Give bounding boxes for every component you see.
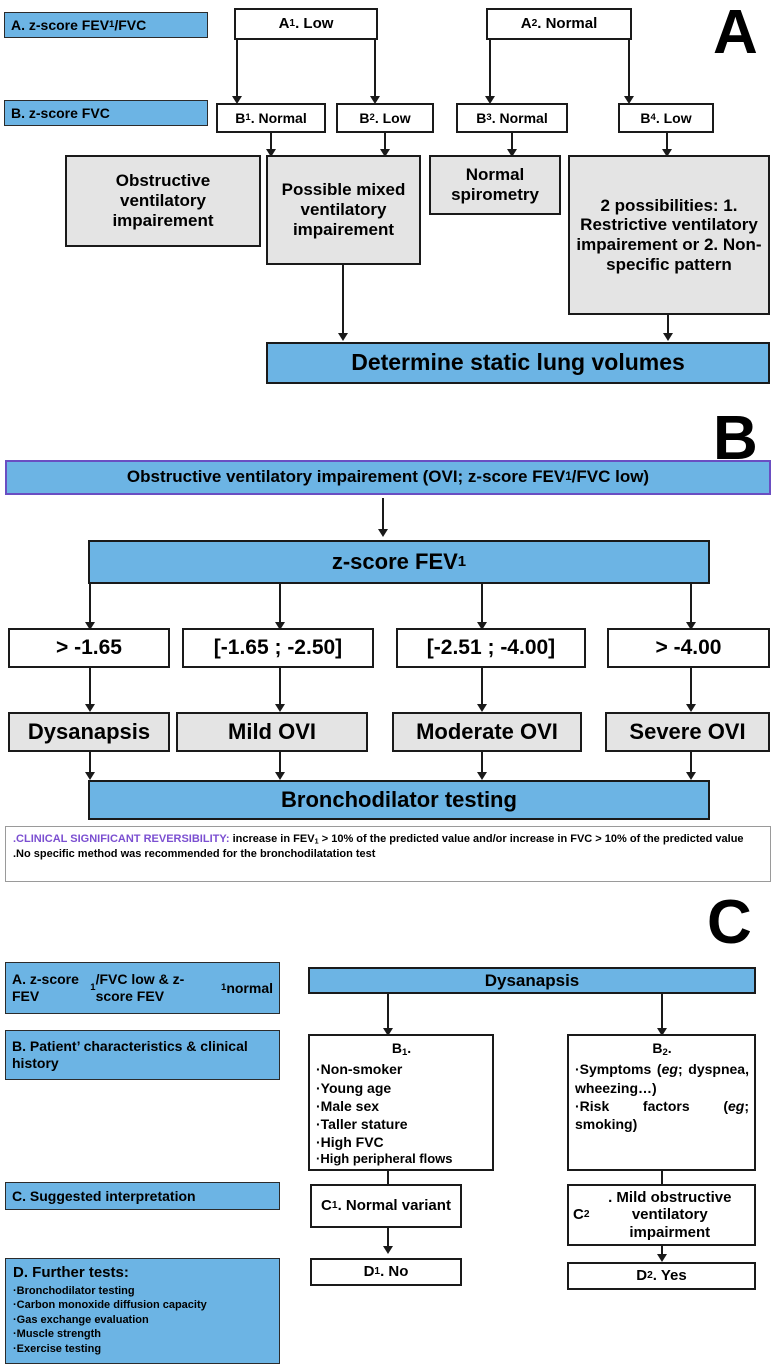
further-tests-item: ·Bronchodilator testing bbox=[13, 1284, 272, 1299]
further-tests-item: ·Gas exchange evaluation bbox=[13, 1313, 272, 1328]
further-tests-list: D. Further tests: ·Bronchodilator testin… bbox=[6, 1259, 279, 1360]
c-row-label-c: C. Suggested interpretation bbox=[5, 1182, 280, 1210]
node-b3-normal[interactable]: B3. Normal bbox=[456, 103, 568, 133]
node-c-dysanapsis-header[interactable]: Dysanapsis bbox=[308, 967, 756, 994]
arrow-range3-to-moderate bbox=[477, 704, 487, 712]
node-ovi-header[interactable]: Obstructive ventilatory impairement (OVI… bbox=[5, 460, 771, 495]
arrow-c2-to-d2 bbox=[657, 1254, 667, 1262]
row-label-a-zscore-fev1-fvc: A. z-score FEV1/FVC bbox=[4, 12, 208, 38]
arrow-range2-to-mild bbox=[275, 704, 285, 712]
arrow-possibilities-to-final bbox=[663, 333, 673, 341]
further-tests-item: ·Muscle strength bbox=[13, 1327, 272, 1342]
node-b4-low[interactable]: B4. Low bbox=[618, 103, 714, 133]
connector-dec-1-v bbox=[89, 584, 91, 626]
note-highlight: .CLINICAL SIGNIFICANT REVERSIBILITY: bbox=[13, 833, 230, 845]
node-range-gt-4-00[interactable]: > -4.00 bbox=[607, 628, 770, 668]
node-range-1-65-2-50[interactable]: [-1.65 ; -2.50] bbox=[182, 628, 374, 668]
node-a1-low[interactable]: A1. Low bbox=[234, 8, 378, 40]
connector-range2-v bbox=[279, 668, 281, 708]
connector-dec-3-v bbox=[481, 584, 483, 626]
node-c2-mild-obstructive[interactable]: C2. Mild obstructive ventilatory impairm… bbox=[567, 1184, 756, 1246]
connector-range3-v bbox=[481, 668, 483, 708]
note-line-2: .No specific method was recommended for … bbox=[13, 848, 375, 860]
connector-range1-v bbox=[89, 668, 91, 708]
b2-item: ·Risk factors (eg; smoking) bbox=[575, 1097, 749, 1133]
node-mild-ovi[interactable]: Mild OVI bbox=[176, 712, 368, 752]
panel-letter-c: C bbox=[707, 892, 752, 954]
b1-item: ·High FVC bbox=[316, 1133, 487, 1151]
node-b2-low[interactable]: B2. Low bbox=[336, 103, 434, 133]
connector-dec-2-v bbox=[279, 584, 281, 626]
connector-range4-v bbox=[690, 668, 692, 708]
arrow-ovi-to-decision bbox=[378, 529, 388, 537]
row-label-b-zscore-fvc: B. z-score FVC bbox=[4, 100, 208, 126]
arrow-mixed-to-final bbox=[338, 333, 348, 341]
node-b1-normal[interactable]: B1. Normal bbox=[216, 103, 326, 133]
connector-ovi-to-decision bbox=[382, 498, 384, 533]
connector-dec-4-v bbox=[690, 584, 692, 626]
node-obstructive-ventilatory-impairment[interactable]: Obstructive ventilatory impairement bbox=[65, 155, 261, 247]
connector-a1-left-v bbox=[236, 40, 238, 100]
c-row-label-b: B. Patient’ characteristics & clinical h… bbox=[5, 1030, 280, 1080]
node-d2-yes[interactable]: D2. Yes bbox=[567, 1262, 756, 1290]
node-c1-normal-variant[interactable]: C1. Normal variant bbox=[310, 1184, 462, 1228]
node-c-branch-b2[interactable]: B2. ·Symptoms (eg; dyspnea, wheezing…) ·… bbox=[567, 1034, 756, 1171]
b1-item: ·Non-smoker bbox=[316, 1060, 487, 1078]
c-further-tests-box: D. Further tests: ·Bronchodilator testin… bbox=[5, 1258, 280, 1364]
b2-bullet-list: B2. ·Symptoms (eg; dyspnea, wheezing…) ·… bbox=[569, 1036, 754, 1136]
node-range-gt-1-65[interactable]: > -1.65 bbox=[8, 628, 170, 668]
arrow-severe-to-bronch bbox=[686, 772, 696, 780]
b1-item: ·High peripheral flows bbox=[316, 1151, 487, 1168]
node-dysanapsis[interactable]: Dysanapsis bbox=[8, 712, 170, 752]
b2-item: ·Symptoms (eg; dyspnea, wheezing…) bbox=[575, 1060, 749, 1096]
arrow-mild-to-bronch bbox=[275, 772, 285, 780]
b1-item: ·Young age bbox=[316, 1079, 487, 1097]
further-tests-item: ·Exercise testing bbox=[13, 1342, 272, 1357]
node-a2-normal[interactable]: A2. Normal bbox=[486, 8, 632, 40]
arrow-dysanapsis-to-bronch bbox=[85, 772, 95, 780]
connector-a1-right-v bbox=[374, 40, 376, 100]
node-severe-ovi[interactable]: Severe OVI bbox=[605, 712, 770, 752]
figure-canvas: A A. z-score FEV1/FVC B. z-score FVC A1.… bbox=[0, 0, 776, 1368]
b1-bullet-list: B1. ·Non-smoker ·Young age ·Male sex ·Ta… bbox=[310, 1036, 492, 1171]
connector-a2-right-v bbox=[628, 40, 630, 100]
connector-a2-left-v bbox=[489, 40, 491, 100]
node-determine-static-lung-volumes[interactable]: Determine static lung volumes bbox=[266, 342, 770, 384]
arrow-moderate-to-bronch bbox=[477, 772, 487, 780]
connector-mixed-to-final bbox=[342, 265, 344, 335]
further-tests-item: ·Carbon monoxide diffusion capacity bbox=[13, 1298, 272, 1313]
c-row-label-a: A. z-score FEV1/FVC low & z-score FEV1 n… bbox=[5, 962, 280, 1014]
node-possible-mixed-ventilatory-impairment[interactable]: Possible mixed ventilatory impairement bbox=[266, 155, 421, 265]
node-range-2-51-4-00[interactable]: [-2.51 ; -4.00] bbox=[396, 628, 586, 668]
node-two-possibilities[interactable]: 2 possibilities: 1. Restrictive ventilat… bbox=[568, 155, 770, 315]
node-zscore-fev1-decision[interactable]: z-score FEV1 bbox=[88, 540, 710, 584]
node-normal-spirometry[interactable]: Normal spirometry bbox=[429, 155, 561, 215]
connector-c-to-b2 bbox=[661, 994, 663, 1032]
note-line-1: increase in FEV1 > 10% of the predicted … bbox=[230, 833, 744, 845]
b2-header: B2. bbox=[575, 1039, 749, 1059]
connector-possibilities-to-final bbox=[667, 315, 669, 335]
arrow-range4-to-severe bbox=[686, 704, 696, 712]
clinical-reversibility-note: .CLINICAL SIGNIFICANT REVERSIBILITY: inc… bbox=[5, 826, 771, 882]
arrow-c1-to-d1 bbox=[383, 1246, 393, 1254]
node-c-branch-b1[interactable]: B1. ·Non-smoker ·Young age ·Male sex ·Ta… bbox=[308, 1034, 494, 1171]
panel-letter-a: A bbox=[713, 2, 758, 64]
b1-item: ·Taller stature bbox=[316, 1115, 487, 1133]
b1-header: B1. bbox=[316, 1039, 487, 1059]
node-moderate-ovi[interactable]: Moderate OVI bbox=[392, 712, 582, 752]
arrow-range1-to-dysanapsis bbox=[85, 704, 95, 712]
connector-c-to-b1 bbox=[387, 994, 389, 1032]
node-bronchodilator-testing[interactable]: Bronchodilator testing bbox=[88, 780, 710, 820]
node-d1-no[interactable]: D1. No bbox=[310, 1258, 462, 1286]
further-tests-title: D. Further tests: bbox=[13, 1263, 272, 1283]
b1-item: ·Male sex bbox=[316, 1097, 487, 1115]
